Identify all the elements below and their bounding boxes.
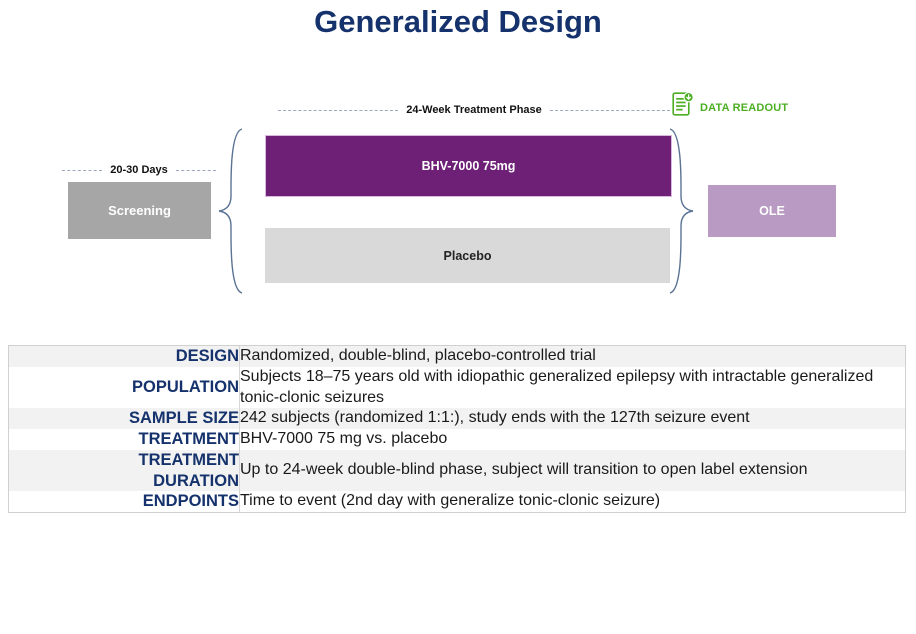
dash-line-right bbox=[176, 170, 216, 171]
table-row: DESIGN Randomized, double-blind, placebo… bbox=[9, 346, 906, 367]
screening-box-label: Screening bbox=[108, 203, 171, 218]
study-design-diagram: 20-30 Days 24-Week Treatment Phase Scree… bbox=[0, 0, 916, 320]
treatment-phase-label: 24-Week Treatment Phase bbox=[278, 104, 670, 116]
dash-line-left bbox=[278, 110, 398, 111]
table-row: POPULATION Subjects 18–75 years old with… bbox=[9, 367, 906, 409]
row-label-design: DESIGN bbox=[9, 346, 240, 367]
row-value-endpoints: Time to event (2nd day with generalize t… bbox=[240, 491, 906, 512]
screening-box: Screening bbox=[68, 182, 211, 239]
row-label-sample-size: SAMPLE SIZE bbox=[9, 408, 240, 429]
row-value-treatment: BHV-7000 75 mg vs. placebo bbox=[240, 429, 906, 450]
placebo-arm-box: Placebo bbox=[265, 228, 670, 283]
table-row: TREATMENT BHV-7000 75 mg vs. placebo bbox=[9, 429, 906, 450]
row-label-endpoints: ENDPOINTS bbox=[9, 491, 240, 512]
table-row: SAMPLE SIZE 242 subjects (randomized 1:1… bbox=[9, 408, 906, 429]
ole-box-label: OLE bbox=[759, 204, 785, 218]
screening-phase-label: 20-30 Days bbox=[62, 164, 216, 176]
dash-line-right bbox=[550, 110, 670, 111]
dash-line-left bbox=[62, 170, 102, 171]
row-label-treatment-duration: TREATMENT DURATION bbox=[9, 450, 240, 491]
document-download-icon bbox=[672, 92, 694, 123]
row-label-treatment: TREATMENT bbox=[9, 429, 240, 450]
study-details-table: DESIGN Randomized, double-blind, placebo… bbox=[8, 345, 906, 513]
placebo-arm-label: Placebo bbox=[444, 249, 492, 263]
data-readout-label: DATA READOUT bbox=[700, 102, 788, 114]
table-row: TREATMENT DURATION Up to 24-week double-… bbox=[9, 450, 906, 491]
row-label-line-2: DURATION bbox=[153, 472, 239, 490]
randomization-brace-icon bbox=[216, 126, 246, 301]
active-arm-label: BHV-7000 75mg bbox=[422, 159, 516, 173]
row-value-design: Randomized, double-blind, placebo-contro… bbox=[240, 346, 906, 367]
data-readout-marker: DATA READOUT bbox=[672, 92, 788, 123]
active-arm-box: BHV-7000 75mg bbox=[265, 135, 672, 197]
row-label-population: POPULATION bbox=[9, 367, 240, 409]
ole-transition-brace-icon bbox=[666, 126, 696, 301]
row-value-treatment-duration: Up to 24-week double-blind phase, subjec… bbox=[240, 450, 906, 491]
table-row: ENDPOINTS Time to event (2nd day with ge… bbox=[9, 491, 906, 512]
screening-duration-text: 20-30 Days bbox=[102, 164, 176, 176]
treatment-duration-text: 24-Week Treatment Phase bbox=[398, 104, 550, 116]
row-label-line-1: TREATMENT bbox=[138, 451, 239, 469]
row-value-population: Subjects 18–75 years old with idiopathic… bbox=[240, 367, 906, 409]
row-value-sample-size: 242 subjects (randomized 1:1:), study en… bbox=[240, 408, 906, 429]
ole-box: OLE bbox=[708, 185, 836, 237]
